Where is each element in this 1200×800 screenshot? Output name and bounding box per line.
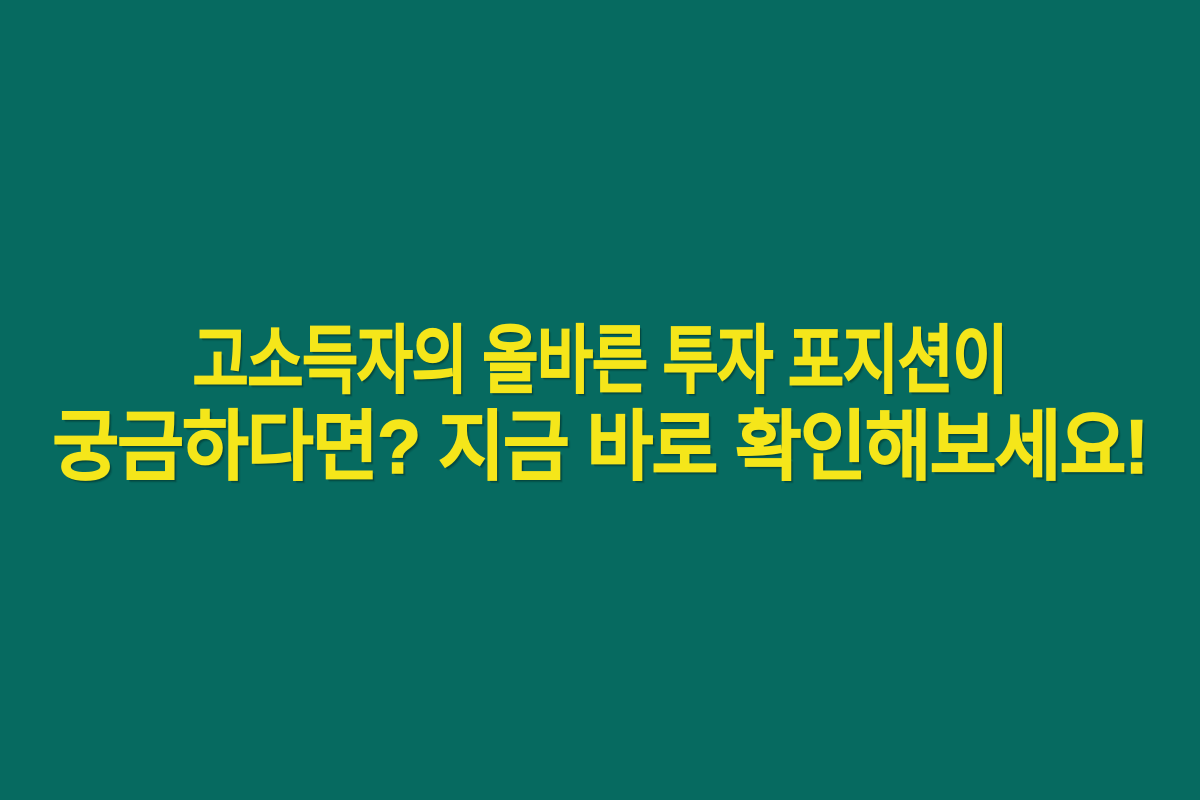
promo-banner: 고소득자의 올바른 투자 포지션이 궁금하다면? 지금 바로 확인해보세요! xyxy=(0,0,1200,800)
headline-line-1: 고소득자의 올바른 투자 포지션이 xyxy=(120,318,1080,404)
headline-block: 고소득자의 올바른 투자 포지션이 궁금하다면? 지금 바로 확인해보세요! xyxy=(0,318,1200,492)
headline-line-2: 궁금하다면? 지금 바로 확인해보세요! xyxy=(45,404,1155,492)
